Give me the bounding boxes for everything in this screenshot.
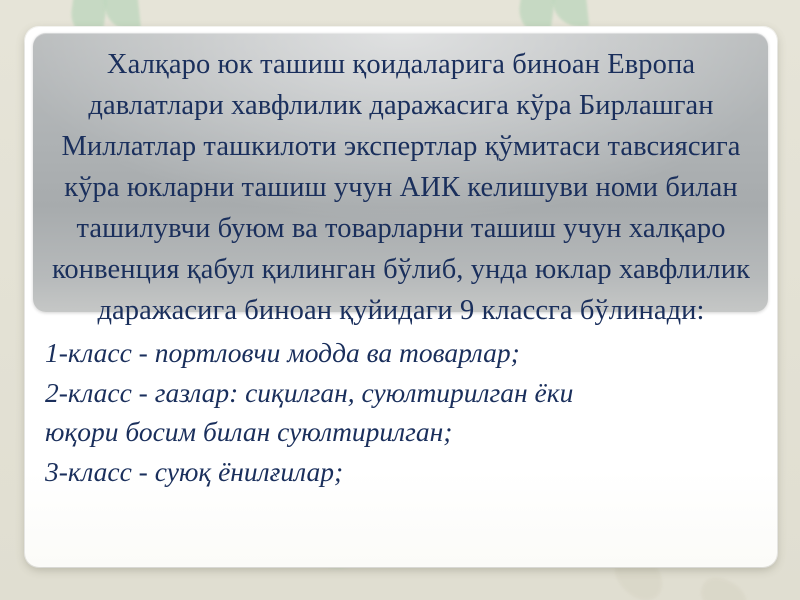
hazard-class-list: 1-класс - портловчи модда ва товарлар; 2… bbox=[45, 333, 757, 491]
list-item: 1-класс - портловчи модда ва товарлар; bbox=[45, 333, 757, 373]
blob-watermark-icon bbox=[696, 573, 753, 600]
intro-paragraph: Халқаро юк ташиш қоидаларига биноан Евро… bbox=[45, 44, 757, 331]
list-item: 3-класс - суюқ ёнилғилар; bbox=[45, 452, 757, 492]
list-item: юқори босим билан суюлтирилган; bbox=[45, 412, 757, 452]
list-item: 2-класс - газлар: сиқилган, суюлтирилган… bbox=[45, 373, 757, 413]
slide-text-region: Халқаро юк ташиш қоидаларига биноан Евро… bbox=[25, 27, 777, 567]
leaf-watermark-icon bbox=[549, 0, 589, 30]
